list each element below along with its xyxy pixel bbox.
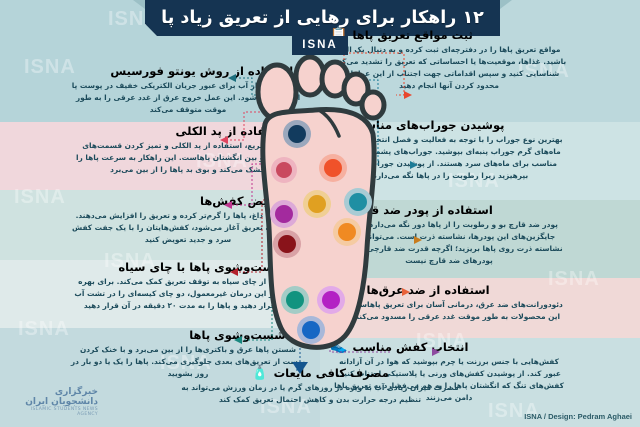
page-title: ۱۲ راهکار برای رهایی از تعریق زیاد پا [145, 0, 500, 36]
center-section-body: مصرف میزان زیادی آب به ویژه در روزهای گر… [170, 382, 470, 406]
credit-line: ISNA / Design: Pedram Aghaei [524, 412, 632, 421]
title-ribbon: ۱۲ راهکار برای رهایی از تعریق زیاد پا [145, 0, 500, 36]
dot-magenta [270, 200, 298, 228]
center-section-header: مصرف کافی مایعات 🧴 [170, 366, 470, 380]
dot-gold [303, 190, 331, 218]
isna-logo: خبرگزاری دانشجویان ایران ISLAMIC STUDENT… [12, 387, 98, 417]
center-section: مصرف کافی مایعات 🧴 مصرف میزان زیادی آب ب… [170, 366, 470, 406]
dot-navy [283, 120, 311, 148]
isna-logo-text: خبرگزاری دانشجویان ایران [12, 387, 98, 407]
dot-orange [333, 218, 361, 246]
water-bottle-icon: 🧴 [251, 366, 268, 380]
dot-blue [297, 316, 325, 344]
isna-logo-subtext: ISLAMIC STUDENTS NEWS AGENCY [12, 407, 98, 417]
dot-tomato [319, 154, 347, 182]
dot-violet [317, 286, 345, 314]
dot-green [281, 286, 309, 314]
center-section-title: مصرف کافی مایعات [274, 366, 389, 380]
isna-badge: ISNA [292, 36, 348, 55]
dot-teal [344, 188, 372, 216]
dot-rose [271, 157, 297, 183]
dot-darkred [273, 230, 301, 258]
